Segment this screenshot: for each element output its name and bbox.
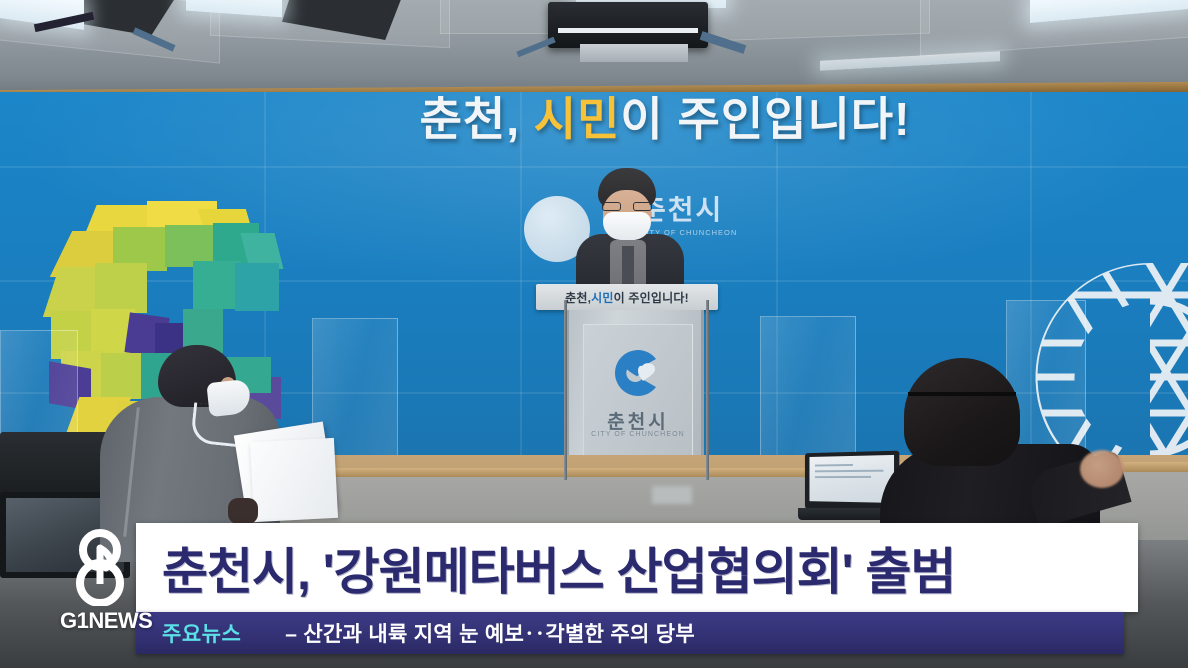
- wall-slogan-prefix: 춘천,: [420, 93, 534, 145]
- news-ticker-bar: 주요뉴스 – 산간과 내륙 지역 눈 예보‥각별한 주의 당부: [136, 612, 1124, 654]
- projector-light-strip: [558, 28, 698, 33]
- reporter-hand: [228, 498, 258, 524]
- wall-slogan-highlight: 시민: [534, 93, 621, 145]
- channel-logo: G1NEWS: [60, 528, 140, 640]
- speaker-glasses: [602, 202, 652, 211]
- podium-city-name-en: CITY OF CHUNCHEON: [584, 431, 692, 438]
- lower-third-headline-bar: 춘천시, '강원메타버스 산업협의회' 출범: [136, 523, 1138, 612]
- speaker-face-mask: [603, 212, 651, 240]
- g1-figure-eight-mark: [66, 528, 134, 606]
- chuncheon-c-heart-logo: [612, 347, 664, 399]
- podium-sign-highlight: 시민: [591, 289, 613, 306]
- ceiling-projector: [548, 2, 708, 48]
- wall-slogan: 춘천, 시민이 주인입니다!: [375, 96, 955, 142]
- podium-city-name: 춘천시: [584, 407, 692, 434]
- desk-edge-trim: [330, 468, 830, 477]
- mic-stand: [706, 300, 709, 480]
- projector-mount-plate: [580, 44, 688, 62]
- podium-sign-suffix: 이 주인입니다!: [614, 289, 689, 306]
- ticker-label: 주요뉴스: [162, 618, 241, 648]
- channel-wordmark: G1NEWS: [60, 608, 140, 634]
- ceiling-light-strip: [820, 51, 1000, 70]
- g1-mark-svg: [66, 528, 134, 606]
- podium-sign-prefix: 춘천,: [565, 289, 591, 306]
- c-heart-logo-svg: [612, 347, 664, 399]
- headline-text: 춘천시, '강원메타버스 산업협의회' 출범: [162, 532, 955, 604]
- wall-slogan-suffix: 이 주인입니다!: [620, 93, 910, 145]
- paper-sheets: [250, 438, 338, 522]
- attendee-hand: [1080, 450, 1124, 488]
- mic-stand: [564, 300, 567, 480]
- attendee-hair: [904, 358, 1020, 466]
- attendee-hair-band: [908, 392, 1016, 396]
- broadcast-frame: 춘천, 시민이 주인입니다!: [0, 0, 1188, 668]
- desk-object: [652, 486, 692, 504]
- wall-panel-seam: [520, 92, 522, 482]
- ticker-headline: – 산간과 내륙 지역 눈 예보‥각별한 주의 당부: [285, 618, 695, 648]
- speaker-tie: [622, 246, 634, 286]
- podium-face-panel: 춘천시 CITY OF CHUNCHEON: [583, 324, 693, 468]
